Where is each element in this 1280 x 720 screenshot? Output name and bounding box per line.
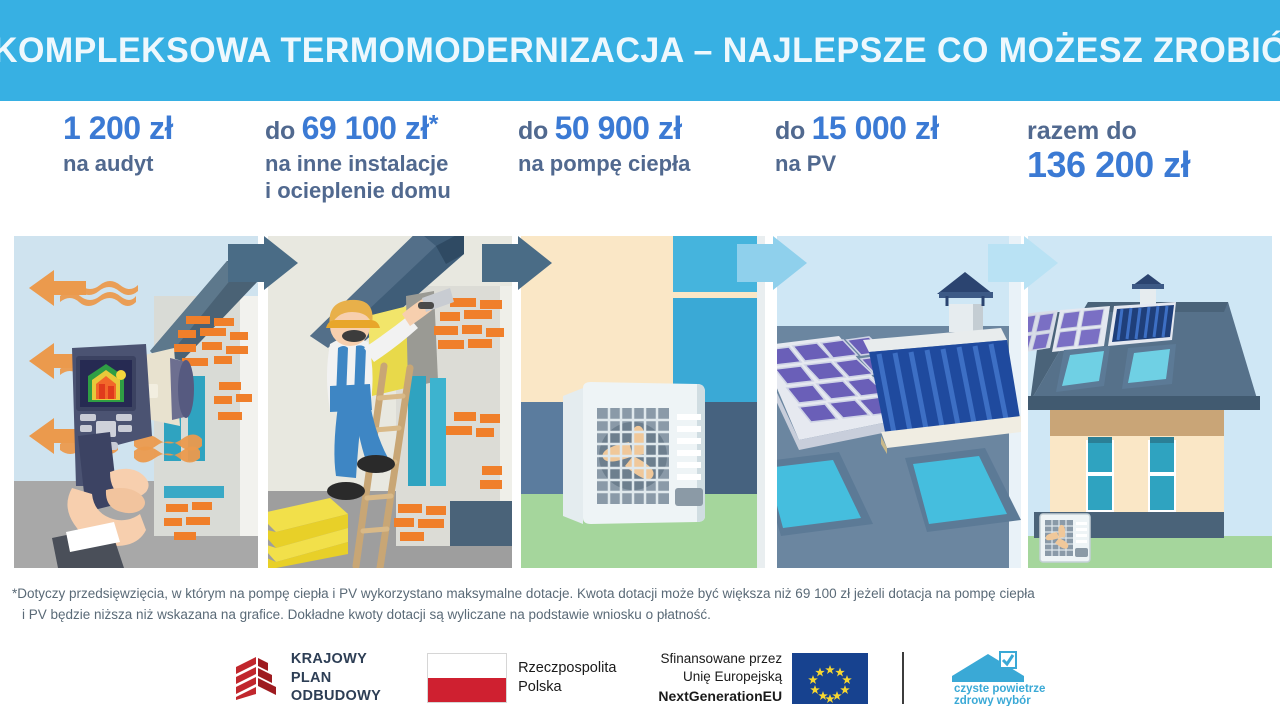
- amount-description-line-1: na pompę ciepła: [518, 151, 690, 178]
- amount-value: 1 200 zł: [63, 110, 173, 146]
- amount-prefix: do: [775, 117, 812, 145]
- arrow-connector-1: [228, 236, 298, 298]
- eu-flag-icon: [792, 653, 868, 704]
- thermal-camera-audit-illustration: [14, 236, 258, 568]
- kpo-line-1: KRAJOWY: [291, 650, 381, 669]
- amount-prefix: do: [265, 117, 302, 145]
- header-banner: KOMPLEKSOWA TERMOMODERNIZACJA – NAJLEPSZ…: [0, 0, 1280, 101]
- amount-value: 15 000 zł: [812, 110, 939, 146]
- worker-on-ladder-insulating-wall-illustration: [268, 236, 512, 568]
- arrow-connector-2: [482, 236, 552, 298]
- amount-description-line-2: i ocieplenie domu: [265, 178, 451, 205]
- amount-column-pv: do 15 000 zł na PV: [775, 112, 939, 178]
- footnote-line-1: *Dotyczy przedsięwzięcia, w którym na po…: [12, 584, 1262, 605]
- arrow-right-icon: [737, 236, 807, 298]
- poland-line-1: Rzeczpospolita: [518, 659, 616, 678]
- kpo-mark-icon: [234, 656, 280, 700]
- panel-ocieplenie: [268, 236, 512, 568]
- footer-logos: KRAJOWY PLAN ODBUDOWY Rzeczpospolita Pol…: [0, 636, 1280, 720]
- modernized-house-illustration: [1028, 236, 1272, 568]
- cp-line-2: zdrowy wybór: [954, 695, 1031, 706]
- panel-audyt: [14, 236, 258, 568]
- arrow-right-icon: [988, 236, 1058, 298]
- amount-description-line-1: na audyt: [63, 151, 173, 178]
- amount-prefix: do: [518, 117, 555, 145]
- roof-with-pv-panels-and-solar-collectors-illustration: [777, 236, 1021, 568]
- kpo-line-3: ODBUDOWY: [291, 687, 381, 706]
- amount-column-instalacje: do 69 100 zł* na inne instalacje i ociep…: [265, 112, 451, 205]
- kpo-line-2: PLAN: [291, 669, 381, 688]
- footer-divider: [902, 652, 904, 704]
- eu-line-1: Sfinansowane przez: [658, 650, 782, 668]
- amount-column-total: razem do 136 200 zł: [1027, 118, 1190, 183]
- panel-pompa: [521, 236, 765, 568]
- panel-dom: [1028, 236, 1272, 568]
- amount-description-line-1: na PV: [775, 151, 939, 178]
- page-title: KOMPLEKSOWA TERMOMODERNIZACJA – NAJLEPSZ…: [0, 31, 1280, 71]
- arrow-connector-3: [737, 236, 807, 298]
- footnote-line-2: i PV będzie niższa niż wskazana na grafi…: [12, 605, 1262, 626]
- logo-rzeczpospolita-polska: Rzeczpospolita Polska: [427, 653, 616, 703]
- logo-next-generation-eu: Sfinansowane przez Unię Europejską NextG…: [658, 650, 868, 706]
- eu-line-2: Unię Europejską: [658, 668, 782, 686]
- total-value: 136 200 zł: [1027, 146, 1190, 184]
- amount-column-audyt: 1 200 zł na audyt: [63, 112, 173, 178]
- footnote: *Dotyczy przedsięwzięcia, w którym na po…: [12, 584, 1262, 626]
- logo-krajowy-plan-odbudowy: KRAJOWY PLAN ODBUDOWY: [234, 650, 381, 706]
- czyste-powietrze-house-icon: czyste powietrze zdrowy wybór: [938, 650, 1046, 706]
- total-label: razem do: [1027, 118, 1190, 146]
- eu-line-3: NextGenerationEU: [658, 687, 782, 706]
- amount-value: 50 900 zł: [555, 110, 682, 146]
- amount-description-line-1: na inne instalacje: [265, 151, 451, 178]
- polish-flag-icon: [427, 653, 507, 703]
- arrow-right-icon: [482, 236, 552, 298]
- poland-line-2: Polska: [518, 678, 616, 697]
- cp-line-1: czyste powietrze: [954, 683, 1045, 695]
- panel-pv: [777, 236, 1021, 568]
- arrow-right-icon: [228, 236, 298, 298]
- amount-asterisk: *: [429, 111, 439, 139]
- logo-czyste-powietrze: czyste powietrze zdrowy wybór: [938, 650, 1046, 706]
- heat-pump-outdoor-unit-illustration: [521, 236, 765, 568]
- arrow-connector-4: [988, 236, 1058, 298]
- amount-value: 69 100 zł: [302, 110, 429, 146]
- amount-column-pompa-ciepla: do 50 900 zł na pompę ciepła: [518, 112, 690, 178]
